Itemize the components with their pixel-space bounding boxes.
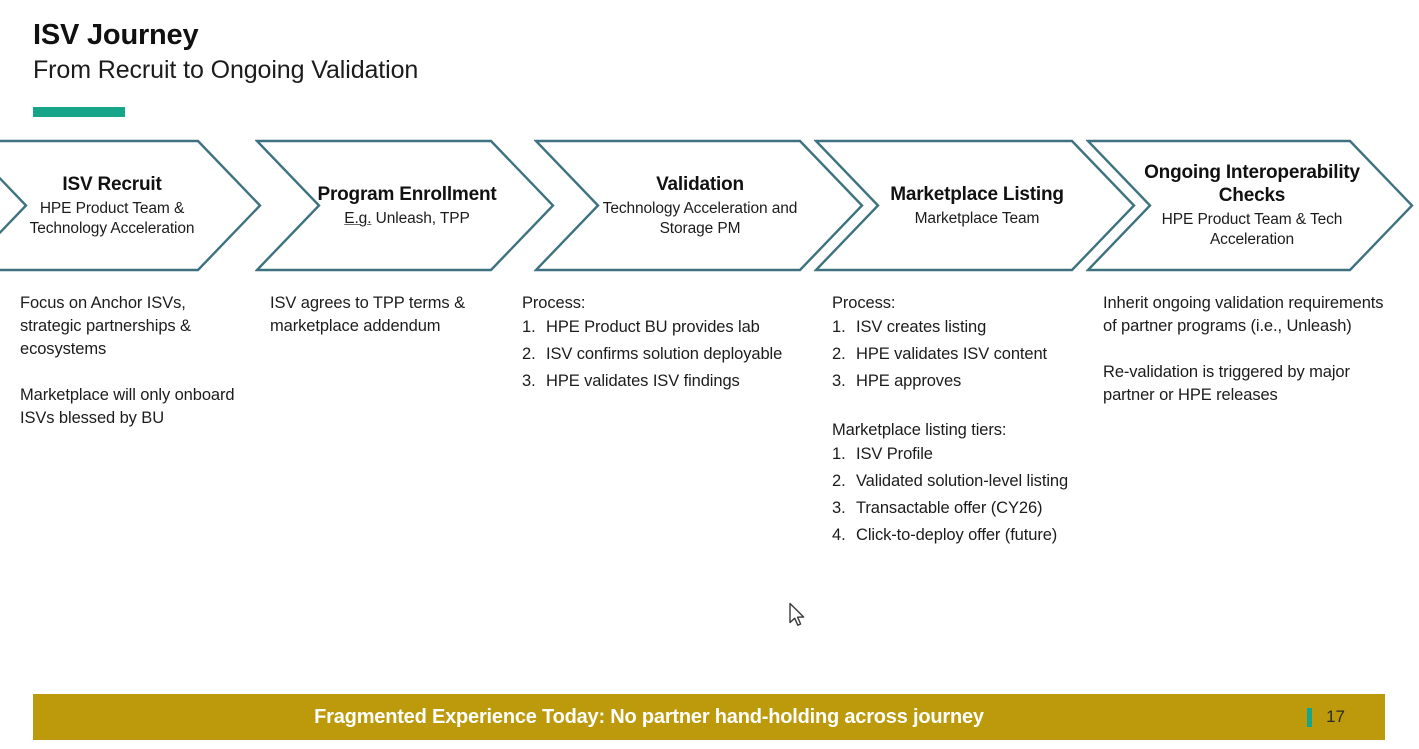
list-item-label: Transactable offer (CY26) (856, 499, 1042, 517)
page-number-tick-icon (1307, 708, 1312, 727)
list-item-number: 4. (832, 523, 852, 547)
list-item-number: 1. (832, 315, 852, 339)
stage-subtitle: E.g. Unleash, TPP (344, 209, 470, 229)
list-item-number: 2. (832, 469, 852, 493)
stage-chevron-ongoing-interoperability-checks-text: Ongoing Interoperability Checks HPE Prod… (1134, 139, 1370, 272)
stage-chevron-program-enrollment[interactable]: Program Enrollment E.g. Unleash, TPP (255, 139, 555, 272)
list-heading: Marketplace listing tiers: (832, 419, 1112, 442)
spacer (20, 361, 250, 384)
list-item: 2. Validated solution-level listing (832, 469, 1112, 493)
detail-paragraph: Marketplace will only onboard ISVs bless… (20, 384, 250, 430)
stage-chevron-marketplace-listing-text: Marketplace Listing Marketplace Team (864, 139, 1090, 272)
page-number-group: 17 (1307, 707, 1345, 727)
stage-title-line2: Checks (1219, 185, 1285, 206)
list-item-label: ISV creates listing (856, 318, 986, 336)
stage-subtitle: Marketplace Team (915, 209, 1040, 229)
list-item: 1. HPE Product BU provides lab (522, 315, 822, 339)
process-list: 1. ISV creates listing 2. HPE validates … (832, 315, 1112, 393)
list-item: 2. HPE validates ISV content (832, 342, 1112, 366)
list-item: 4. Click-to-deploy offer (future) (832, 523, 1112, 547)
stage-detail-column-ongoing-interoperability-checks: Inherit ongoing validation requirements … (1103, 292, 1388, 407)
stage-chevron-isv-recruit[interactable]: ISV Recruit HPE Product Team & Technolog… (0, 139, 262, 272)
stage-subtitle-prefix: E.g. (344, 210, 371, 227)
footer-banner: Fragmented Experience Today: No partner … (33, 694, 1385, 740)
list-item-label: Validated solution-level listing (856, 472, 1068, 490)
stage-detail-column-validation: Process: 1. HPE Product BU provides lab … (522, 292, 822, 396)
detail-paragraph: ISV agrees to TPP terms & marketplace ad… (270, 292, 515, 338)
list-item: 3. Transactable offer (CY26) (832, 496, 1112, 520)
list-heading: Process: (832, 292, 1112, 315)
stage-subtitle: HPE Product Team & Technology Accelerati… (30, 199, 195, 239)
list-item: 3. HPE approves (832, 369, 1112, 393)
stage-detail-column-marketplace-listing: Process: 1. ISV creates listing 2. HPE v… (832, 292, 1112, 550)
stage-title-line1: Ongoing Interoperability (1144, 162, 1360, 183)
stage-subtitle: Technology Acceleration and Storage PM (603, 199, 798, 239)
stage-title: Validation (656, 173, 744, 196)
footer-banner-text: Fragmented Experience Today: No partner … (314, 706, 984, 729)
list-item-label: HPE approves (856, 372, 961, 390)
list-item: 3. HPE validates ISV findings (522, 369, 822, 393)
stage-subtitle-line2: Technology Acceleration (30, 220, 195, 237)
page-number: 17 (1326, 707, 1345, 727)
list-item: 1. ISV Profile (832, 442, 1112, 466)
list-item-number: 1. (522, 315, 542, 339)
list-item-number: 3. (832, 496, 852, 520)
accent-bar (33, 107, 125, 117)
stage-title: ISV Recruit (62, 173, 161, 196)
spacer (1103, 338, 1388, 361)
stage-subtitle-line1: HPE Product Team & Tech (1162, 211, 1343, 228)
stage-chevron-validation-text: Validation Technology Acceleration and S… (584, 139, 816, 272)
stage-subtitle-line2: Storage PM (660, 220, 741, 237)
stage-chevron-isv-recruit-text: ISV Recruit HPE Product Team & Technolog… (12, 139, 212, 272)
stage-chevron-strip: ISV Recruit HPE Product Team & Technolog… (0, 139, 1419, 272)
list-item-label: ISV confirms solution deployable (546, 345, 782, 363)
page-title: ISV Journey (33, 18, 933, 52)
list-item-label: Click-to-deploy offer (future) (856, 526, 1057, 544)
list-item-number: 3. (832, 369, 852, 393)
stage-subtitle-line1: HPE Product Team & (40, 200, 184, 217)
stage-chevron-ongoing-interoperability-checks[interactable]: Ongoing Interoperability Checks HPE Prod… (1086, 139, 1414, 272)
list-item-label: HPE Product BU provides lab (546, 318, 760, 336)
list-item-number: 3. (522, 369, 542, 393)
mouse-cursor-icon (788, 602, 808, 630)
list-item: 2. ISV confirms solution deployable (522, 342, 822, 366)
spacer (832, 396, 1112, 419)
title-block: ISV Journey From Recruit to Ongoing Vali… (33, 18, 933, 86)
list-heading: Process: (522, 292, 822, 315)
list-item-label: HPE validates ISV content (856, 345, 1047, 363)
stage-title: Ongoing Interoperability Checks (1144, 161, 1360, 207)
listing-tiers-list: 1. ISV Profile 2. Validated solution-lev… (832, 442, 1112, 547)
list-item-number: 1. (832, 442, 852, 466)
process-list: 1. HPE Product BU provides lab 2. ISV co… (522, 315, 822, 393)
stage-detail-column-program-enrollment: ISV agrees to TPP terms & marketplace ad… (270, 292, 515, 338)
stage-chevron-program-enrollment-text: Program Enrollment E.g. Unleash, TPP (307, 139, 507, 272)
list-item-number: 2. (522, 342, 542, 366)
list-item: 1. ISV creates listing (832, 315, 1112, 339)
page-subtitle: From Recruit to Ongoing Validation (33, 55, 933, 86)
stage-title: Program Enrollment (317, 183, 496, 206)
detail-paragraph: Focus on Anchor ISVs, strategic partners… (20, 292, 250, 361)
list-item-label: HPE validates ISV findings (546, 372, 740, 390)
detail-paragraph: Re-validation is triggered by major part… (1103, 361, 1388, 407)
stage-detail-column-isv-recruit: Focus on Anchor ISVs, strategic partners… (20, 292, 250, 430)
detail-paragraph: Inherit ongoing validation requirements … (1103, 292, 1388, 338)
stage-subtitle-rest: Unleash, TPP (371, 210, 469, 227)
stage-title: Marketplace Listing (890, 183, 1064, 206)
list-item-number: 2. (832, 342, 852, 366)
list-item-label: ISV Profile (856, 445, 933, 463)
stage-subtitle-line2: Acceleration (1210, 231, 1294, 248)
stage-subtitle: HPE Product Team & Tech Acceleration (1162, 210, 1343, 250)
stage-subtitle-line1: Technology Acceleration and (603, 200, 798, 217)
